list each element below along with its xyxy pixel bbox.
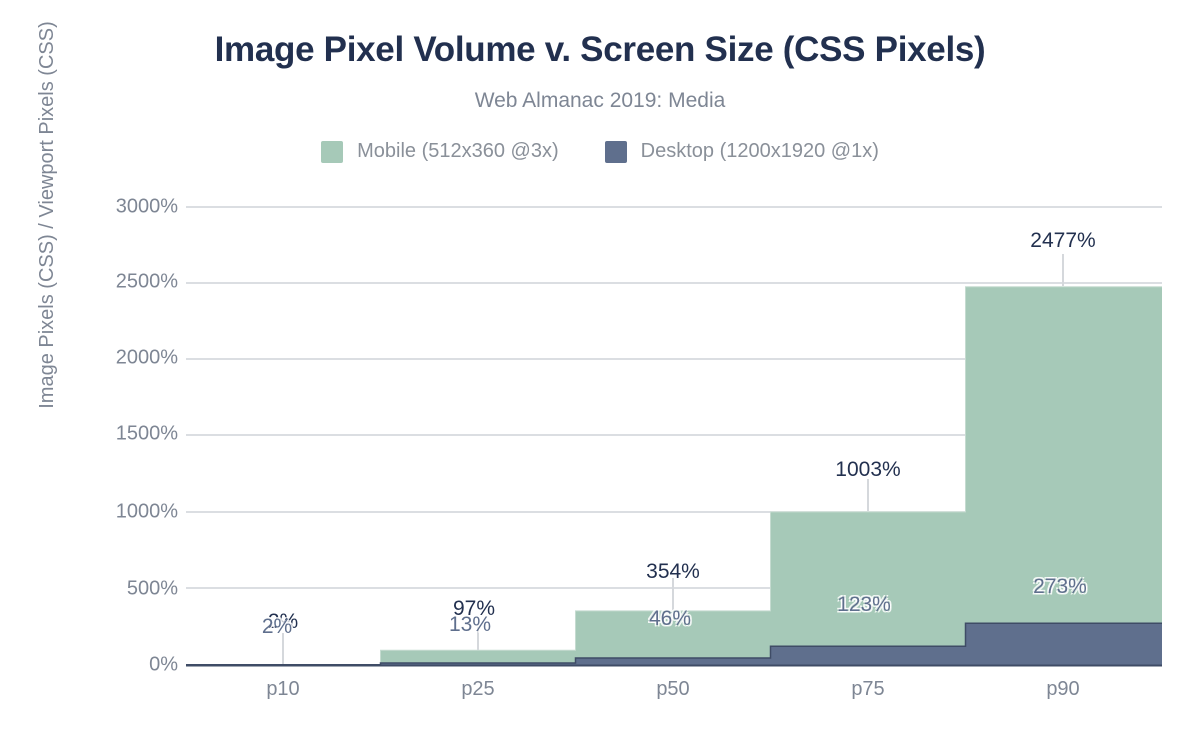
chart-container: Image Pixel Volume v. Screen Size (CSS P… (0, 0, 1200, 742)
plot-area: Image Pixels (CSS) / Viewport Pixels (CS… (0, 0, 1200, 742)
data-label-mobile-p75: 1003% (835, 458, 900, 482)
x-tick-label-p90: p90 (1046, 678, 1079, 701)
data-label-desktop-p50: 46% (649, 607, 691, 631)
data-label-desktop-p90: 273% (1033, 575, 1087, 599)
x-tick-label-p10: p10 (266, 678, 299, 701)
data-label-desktop-p10: 2% (262, 615, 292, 639)
data-label-mobile-p50: 354% (646, 560, 700, 584)
data-label-desktop-p75: 123% (837, 593, 891, 617)
x-tick-label-p75: p75 (851, 678, 884, 701)
chart-svg (0, 0, 1200, 742)
data-label-mobile-p90: 2477% (1030, 229, 1095, 253)
x-tick-label-p25: p25 (461, 678, 494, 701)
data-label-desktop-p25: 13% (449, 613, 491, 637)
x-tick-label-p50: p50 (656, 678, 689, 701)
